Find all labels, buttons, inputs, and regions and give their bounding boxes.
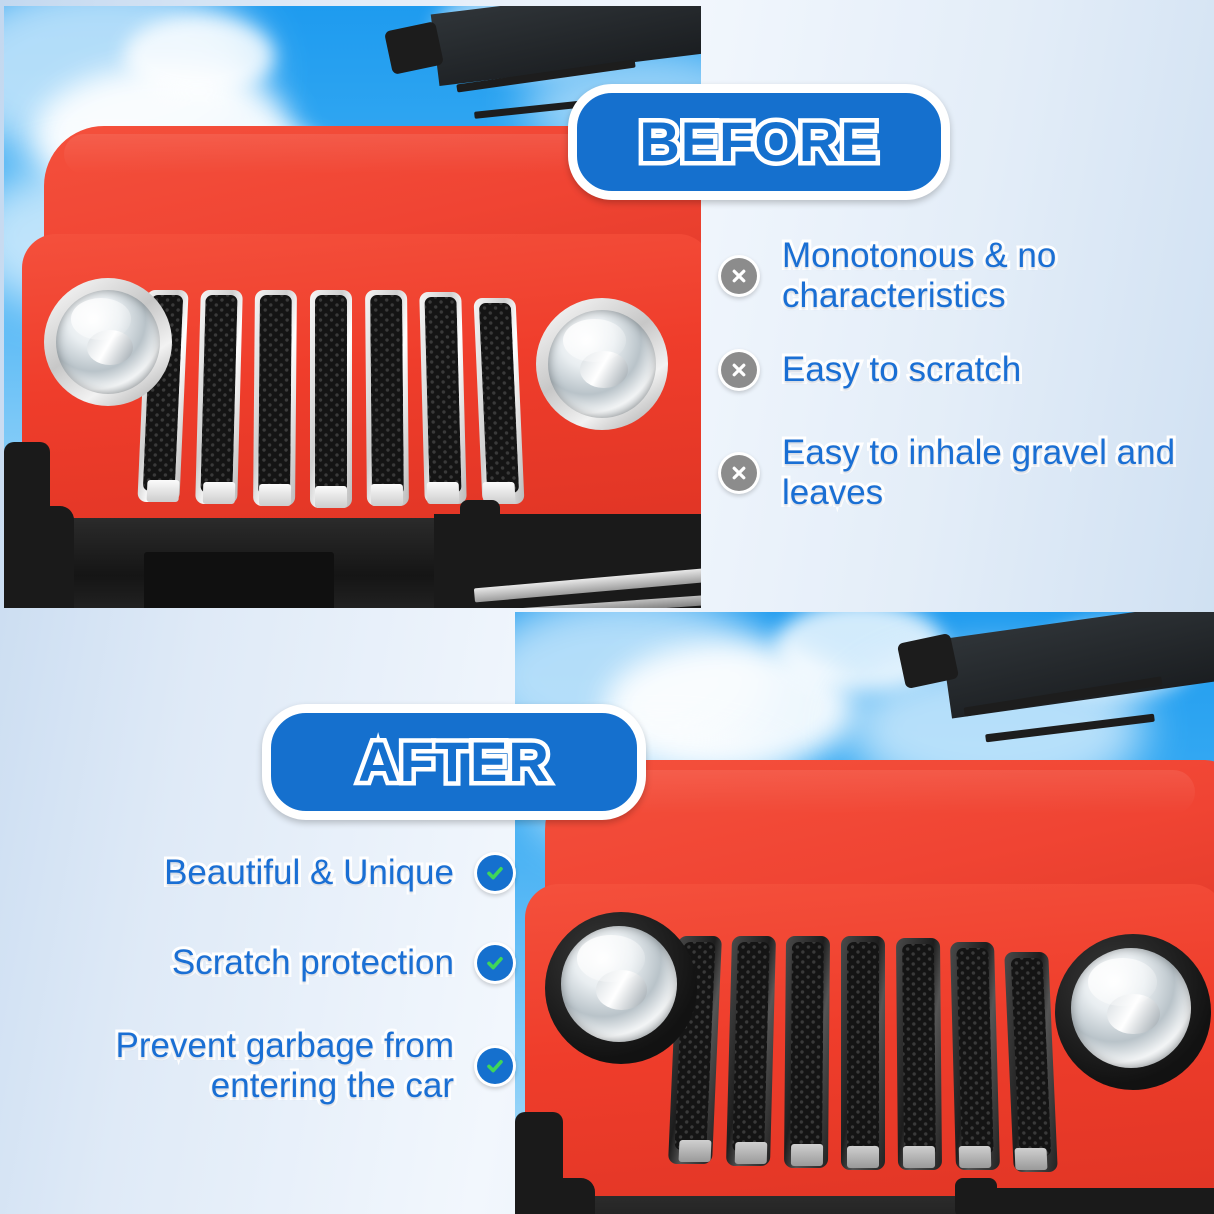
- check-circle-icon: [474, 1045, 516, 1087]
- comparison-infographic: BEFORE AFTER Monotonous & no characteris…: [0, 0, 1214, 1214]
- license-plate-recess: [144, 552, 334, 608]
- before-badge-label: BEFORE: [639, 114, 878, 170]
- list-item-label: Easy to scratch: [782, 350, 1021, 390]
- list-item-label: Monotonous & no characteristics: [782, 236, 1210, 315]
- list-item: Easy to inhale gravel and leaves: [718, 433, 1210, 512]
- list-item-label: Prevent garbage from entering the car: [14, 1026, 454, 1105]
- check-circle-icon: [474, 942, 516, 984]
- check-circle-icon: [474, 852, 516, 894]
- list-item: Monotonous & no characteristics: [718, 236, 1210, 315]
- grille-black-insert: [665, 930, 1065, 1180]
- list-item: Beautiful & Unique: [14, 852, 516, 894]
- list-item-label: Scratch protection: [14, 943, 454, 983]
- before-badge: BEFORE: [568, 84, 950, 200]
- x-circle-icon: [718, 255, 760, 297]
- x-circle-icon: [718, 452, 760, 494]
- after-badge-label: AFTER: [358, 734, 550, 790]
- after-badge: AFTER: [262, 704, 646, 820]
- list-item: Prevent garbage from entering the car: [14, 1026, 516, 1105]
- list-item: Scratch protection: [14, 942, 516, 984]
- grille-chrome: [134, 284, 534, 514]
- before-drawback-list: Monotonous & no characteristics Easy to …: [718, 236, 1210, 512]
- list-item-label: Beautiful & Unique: [14, 853, 454, 893]
- list-item: Easy to scratch: [718, 349, 1210, 391]
- list-item-label: Easy to inhale gravel and leaves: [782, 433, 1210, 512]
- x-circle-icon: [718, 349, 760, 391]
- after-photo: [515, 612, 1214, 1214]
- after-benefit-list: Beautiful & Unique Scratch protection: [14, 852, 516, 1105]
